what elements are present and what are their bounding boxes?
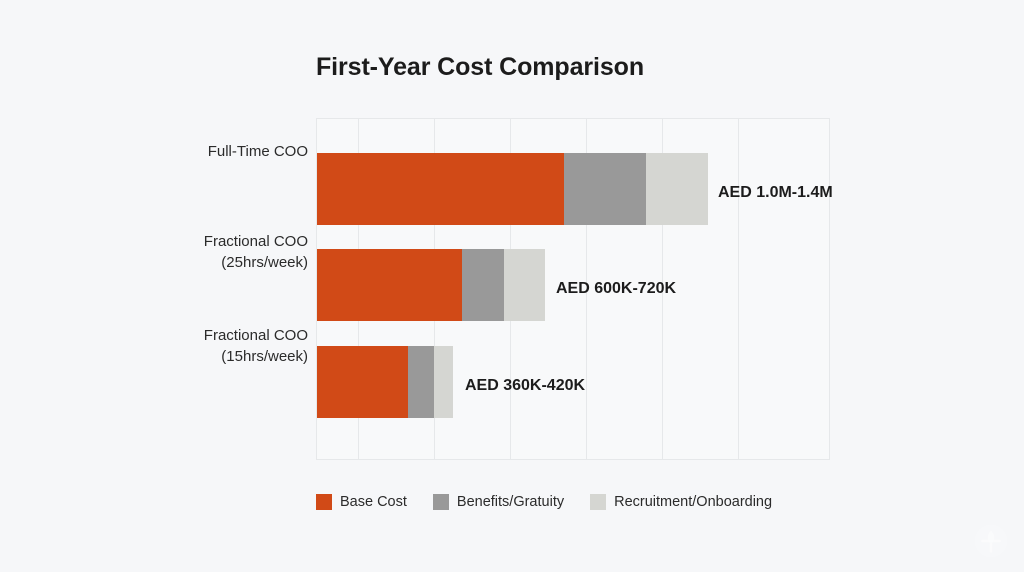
bar-value-label-1: AED 600K-720K [556,281,676,297]
legend-item-base-cost[interactable]: Base Cost [316,494,407,510]
bar-segment-base-cost[interactable] [317,346,408,418]
y-axis-label-0: Full-Time COO [18,141,308,162]
legend-item-recruitment[interactable]: Recruitment/Onboarding [590,494,772,510]
chart-legend: Base Cost Benefits/Gratuity Recruitment/… [316,494,798,510]
bar-fractional-coo-25hrs[interactable] [317,249,545,321]
legend-item-benefits[interactable]: Benefits/Gratuity [433,494,564,510]
gridline [738,119,739,459]
bar-segment-recruitment[interactable] [504,249,545,321]
legend-swatch-icon [316,494,332,510]
bar-value-label-0: AED 1.0M-1.4M [718,185,833,201]
legend-swatch-icon [590,494,606,510]
bar-segment-recruitment[interactable] [434,346,453,418]
bar-segment-benefits[interactable] [408,346,434,418]
legend-label: Benefits/Gratuity [457,494,564,510]
legend-swatch-icon [433,494,449,510]
plot-area: AED 1.0M-1.4M AED 600K-720K AED 360K-420… [316,118,830,460]
y-axis-label-1: Fractional COO (25hrs/week) [18,231,308,273]
bar-segment-benefits[interactable] [462,249,504,321]
bar-segment-base-cost[interactable] [317,249,462,321]
bar-full-time-coo[interactable] [317,153,708,225]
legend-label: Recruitment/Onboarding [614,494,772,510]
y-axis-label-2: Fractional COO (15hrs/week) [18,325,308,367]
bar-segment-recruitment[interactable] [646,153,708,225]
bar-value-label-2: AED 360K-420K [465,378,585,394]
bar-segment-base-cost[interactable] [317,153,564,225]
bar-fractional-coo-15hrs[interactable] [317,346,453,418]
chart-container: First-Year Cost Comparison Full-Time COO… [0,0,1024,572]
chart-title: First-Year Cost Comparison [316,53,644,82]
legend-label: Base Cost [340,494,407,510]
watermark-logo-icon [974,524,1008,558]
bar-segment-benefits[interactable] [564,153,646,225]
y-axis-labels: Full-Time COO Fractional COO (25hrs/week… [0,118,308,460]
